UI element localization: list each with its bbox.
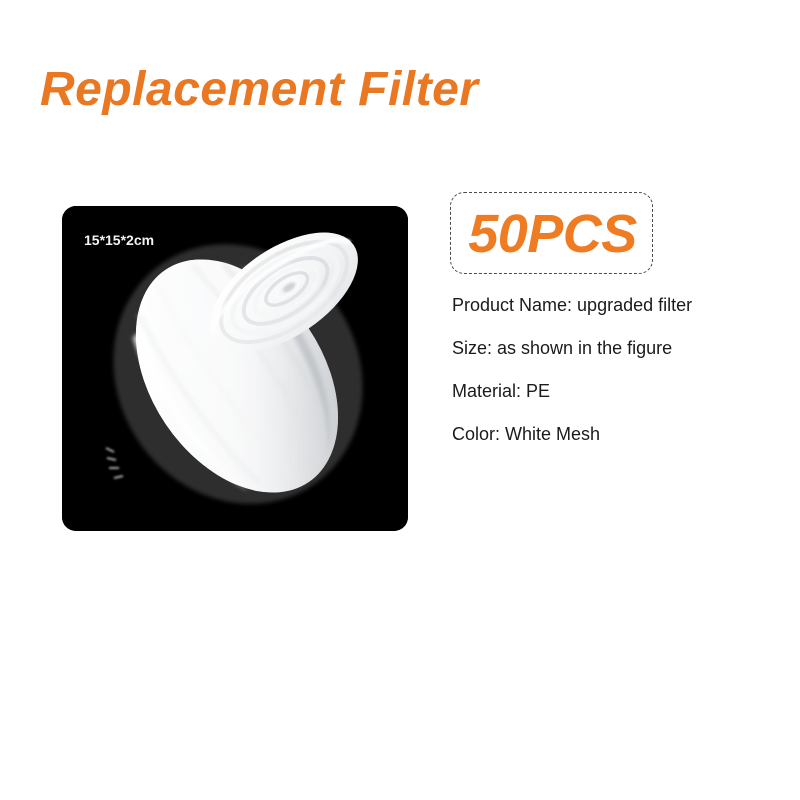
quantity-badge-label: 50PCS	[451, 193, 654, 275]
product-dimension-label: 15*15*2cm	[84, 232, 154, 248]
spec-row-material: Material: PE	[452, 380, 782, 402]
spec-row-product-name: Product Name: upgraded filter	[452, 294, 782, 316]
spec-row-size: Size: as shown in the figure	[452, 337, 782, 359]
spec-row-color: Color: White Mesh	[452, 423, 782, 445]
quantity-badge: 50PCS	[450, 192, 653, 274]
product-spec-list: Product Name: upgraded filter Size: as s…	[452, 294, 782, 445]
product-marketing-page: Replacement Filter	[0, 0, 800, 800]
product-photo-image	[62, 206, 408, 531]
page-title: Replacement Filter	[40, 61, 478, 119]
product-photo-panel: 15*15*2cm	[62, 206, 408, 531]
